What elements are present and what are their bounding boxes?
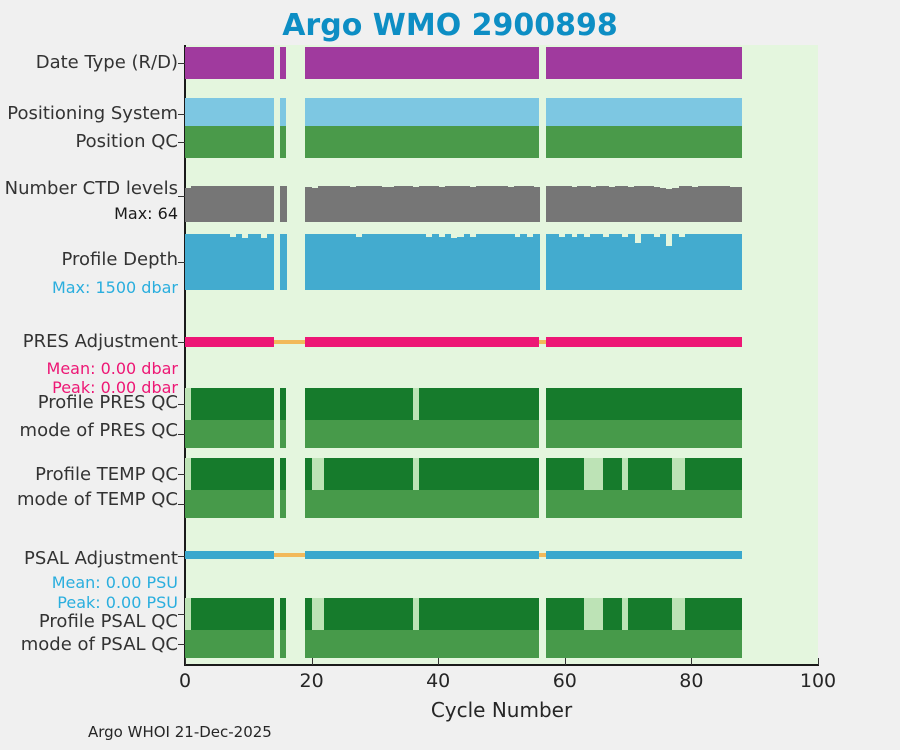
x-tick-label: 0 bbox=[155, 670, 215, 692]
track-pres-adjustment bbox=[0, 337, 900, 347]
qc-flag-span bbox=[185, 598, 191, 630]
track-date-type-r-d- bbox=[0, 47, 900, 79]
data-span bbox=[185, 98, 274, 126]
value-bar bbox=[736, 234, 743, 290]
track-profile-depth bbox=[0, 234, 900, 290]
x-tick-label: 60 bbox=[535, 670, 595, 692]
data-span bbox=[305, 98, 539, 126]
qc-flag-span bbox=[312, 458, 325, 490]
data-span bbox=[185, 126, 274, 158]
x-tick bbox=[312, 658, 313, 665]
value-bar bbox=[280, 186, 287, 222]
data-span bbox=[280, 490, 286, 518]
track-mode-of-pres-qc bbox=[0, 420, 900, 448]
x-tick-label: 20 bbox=[282, 670, 342, 692]
track-profile-psal-qc bbox=[0, 598, 900, 630]
qc-flag-span bbox=[622, 458, 628, 490]
data-span bbox=[546, 388, 742, 420]
data-span bbox=[305, 126, 539, 158]
data-span bbox=[280, 598, 286, 630]
data-span bbox=[280, 458, 286, 490]
data-span bbox=[185, 490, 274, 518]
qc-flag-span bbox=[584, 458, 603, 490]
footer-credit: Argo WHOI 21-Dec-2025 bbox=[88, 723, 272, 741]
track-profile-temp-qc bbox=[0, 458, 900, 490]
data-span bbox=[546, 458, 742, 490]
adjustment-line-segment bbox=[546, 337, 742, 347]
data-span bbox=[185, 630, 274, 658]
data-span bbox=[185, 47, 274, 79]
data-span bbox=[546, 126, 742, 158]
x-tick bbox=[691, 658, 692, 665]
data-span bbox=[546, 598, 742, 630]
adjustment-line-segment bbox=[305, 551, 539, 559]
value-bar bbox=[533, 234, 540, 290]
x-tick-label: 100 bbox=[788, 670, 848, 692]
value-bar bbox=[736, 187, 743, 222]
data-span bbox=[546, 490, 742, 518]
x-tick bbox=[438, 658, 439, 665]
qc-flag-span bbox=[185, 458, 191, 490]
data-span bbox=[546, 47, 742, 79]
data-span bbox=[185, 388, 274, 420]
adjustment-line-segment bbox=[546, 551, 742, 559]
data-span bbox=[185, 458, 274, 490]
adjustment-line-segment bbox=[185, 551, 274, 559]
x-axis-label: Cycle Number bbox=[185, 698, 818, 722]
data-span bbox=[305, 388, 539, 420]
value-bar bbox=[280, 234, 287, 290]
value-bar bbox=[267, 234, 274, 290]
track-position-qc bbox=[0, 126, 900, 158]
qc-flag-span bbox=[672, 598, 685, 630]
data-span bbox=[185, 598, 274, 630]
qc-flag-span bbox=[584, 598, 603, 630]
data-span bbox=[305, 598, 539, 630]
data-span bbox=[305, 420, 539, 448]
x-tick bbox=[185, 658, 186, 665]
data-span bbox=[280, 126, 286, 158]
track-positioning-system bbox=[0, 98, 900, 126]
adjustment-line-segment bbox=[305, 337, 539, 347]
data-span bbox=[546, 98, 742, 126]
x-tick-label: 40 bbox=[408, 670, 468, 692]
data-span bbox=[185, 420, 274, 448]
track-mode-of-temp-qc bbox=[0, 490, 900, 518]
data-span bbox=[280, 47, 286, 79]
qc-flag-span bbox=[672, 458, 685, 490]
x-axis-line bbox=[184, 664, 819, 666]
data-span bbox=[280, 420, 286, 448]
track-profile-pres-qc bbox=[0, 388, 900, 420]
qc-flag-span bbox=[413, 388, 419, 420]
x-tick bbox=[818, 658, 819, 665]
x-tick bbox=[565, 658, 566, 665]
data-span bbox=[305, 630, 539, 658]
value-bar bbox=[267, 186, 274, 222]
argo-float-dashboard: Argo WMO 2900898 Date Type (R/D)Position… bbox=[0, 0, 900, 750]
qc-flag-span bbox=[312, 598, 325, 630]
data-span bbox=[280, 630, 286, 658]
qc-flag-span bbox=[185, 388, 191, 420]
value-bar bbox=[533, 187, 540, 222]
data-span bbox=[280, 98, 286, 126]
data-span bbox=[305, 490, 539, 518]
data-span bbox=[546, 420, 742, 448]
page-title: Argo WMO 2900898 bbox=[0, 8, 900, 43]
qc-flag-span bbox=[413, 598, 419, 630]
track-number-ctd-levels bbox=[0, 186, 900, 222]
data-span bbox=[305, 47, 539, 79]
data-span bbox=[546, 630, 742, 658]
data-span bbox=[305, 458, 539, 490]
qc-flag-span bbox=[622, 598, 628, 630]
track-psal-adjustment bbox=[0, 551, 900, 559]
x-tick-label: 80 bbox=[661, 670, 721, 692]
track-mode-of-psal-qc bbox=[0, 630, 900, 658]
row-label-psal-adjustment: Mean: 0.00 PSU bbox=[52, 572, 178, 594]
adjustment-line-segment bbox=[185, 337, 274, 347]
data-span bbox=[280, 388, 286, 420]
qc-flag-span bbox=[413, 458, 419, 490]
